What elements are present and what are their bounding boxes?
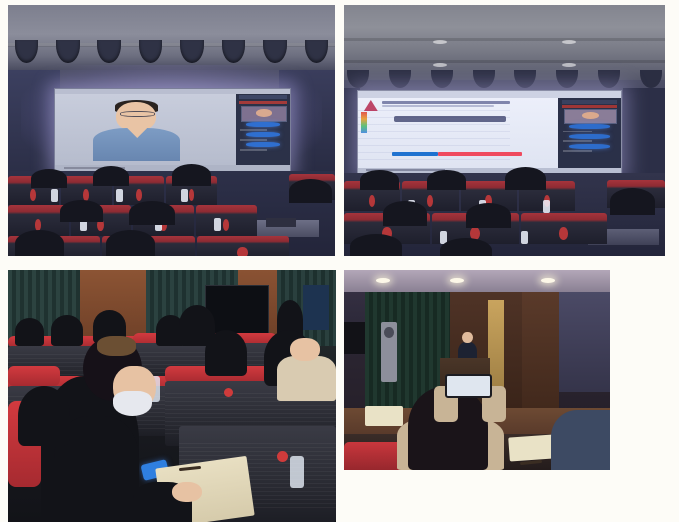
attendee (427, 170, 466, 190)
attendee (466, 203, 511, 228)
auditorium-scene (8, 5, 335, 256)
slide-color-strip (361, 112, 367, 133)
attendee-coat (277, 356, 336, 401)
attendee (93, 166, 129, 186)
attendee (106, 230, 155, 256)
seating-area (344, 173, 665, 256)
water-bottle-icon (290, 456, 304, 488)
attendee (360, 170, 399, 190)
ceiling-light-icon (433, 63, 447, 67)
stage-view-scene (344, 270, 610, 470)
desk (521, 213, 607, 244)
notebook-icon (508, 434, 555, 461)
seating-area (8, 171, 335, 256)
dome-speaker-icon (556, 70, 578, 88)
participant-thumbnail (241, 106, 286, 122)
attendee (440, 238, 491, 256)
attendee-face (290, 338, 320, 361)
photo-collage (0, 0, 679, 522)
dome-speaker-icon (56, 40, 80, 63)
presentation-slide (358, 98, 558, 168)
water-bottle-icon (521, 231, 528, 244)
water-bottle-icon (181, 189, 188, 202)
hair-accessory (97, 336, 136, 356)
ceiling-light-row-1 (376, 40, 633, 44)
projection-screen (357, 90, 622, 175)
attendee (15, 318, 45, 346)
slide-header-subtext (382, 105, 494, 107)
glasses-icon (120, 111, 155, 117)
dome-speaker-icon (431, 70, 453, 88)
video-main-view (55, 94, 236, 165)
dome-speaker-icon (15, 40, 39, 63)
dome-speaker-icon (347, 70, 369, 88)
attendee (60, 200, 103, 222)
dome-speaker-icon (97, 40, 121, 63)
sidebar-button-3 (569, 144, 611, 149)
video-conference-sidebar (558, 98, 621, 168)
dome-speaker-icon (514, 70, 536, 88)
banner (303, 285, 329, 330)
sidebar-button-1 (569, 124, 611, 129)
projection-screen (559, 292, 610, 392)
attendee (31, 169, 67, 188)
attendee (51, 315, 84, 345)
attendee (15, 230, 64, 256)
attendee (205, 330, 248, 375)
desk (197, 236, 289, 256)
loudspeaker (381, 322, 397, 382)
sidebar-button-1 (246, 122, 281, 127)
wall-right (623, 88, 665, 173)
attendee (129, 201, 175, 225)
sidebar-label-1 (563, 131, 592, 133)
sidebar-label-2 (240, 139, 267, 141)
wall-panel-wood (522, 292, 559, 408)
attendee (350, 234, 401, 256)
monitor (344, 322, 365, 354)
attendee (505, 167, 547, 190)
sidebar-label-3 (240, 149, 267, 151)
attendee (18, 386, 70, 446)
foreground-attendee-blurred (551, 410, 610, 470)
slide-header-text (382, 101, 510, 103)
water-bottle-icon (214, 218, 221, 231)
ceiling-light-icon (541, 278, 555, 283)
sidebar-label-3 (563, 150, 592, 152)
water-bottle-icon (116, 189, 123, 202)
photo-top-right[interactable] (344, 5, 665, 256)
notebook-icon (365, 406, 402, 426)
participant-thumbnail (564, 109, 617, 124)
dome-speaker-icon (598, 70, 620, 88)
ceiling-light-icon (562, 63, 576, 67)
desk (196, 205, 257, 236)
ceiling-light-icon (433, 40, 447, 44)
screen-titlebar (358, 91, 621, 98)
progress-bar-blue (392, 152, 438, 157)
dome-speaker-row (15, 40, 329, 63)
tablet-icon[interactable] (445, 374, 492, 398)
dome-speaker-icon (389, 70, 411, 88)
dome-speaker-icon (473, 70, 495, 88)
photo-bottom-right[interactable] (344, 270, 610, 470)
sidebar-label-2 (563, 140, 592, 142)
sidebar-button-2 (569, 134, 611, 139)
dome-speaker-icon (305, 40, 329, 63)
ceiling-light-icon (376, 278, 390, 283)
photo-top-left[interactable] (8, 5, 335, 256)
sidebar-header (562, 100, 618, 103)
seat-headrest (8, 366, 60, 386)
photo-bottom-left[interactable] (8, 270, 336, 522)
podium (266, 218, 295, 227)
sidebar-header (239, 95, 288, 99)
attendee (383, 201, 428, 226)
attendee-hand (172, 482, 202, 502)
ceiling-light-icon (562, 40, 576, 44)
sidebar-label-1 (240, 129, 267, 131)
dome-speaker-icon (263, 40, 287, 63)
dome-speaker-icon (640, 70, 662, 88)
auditorium-scene (344, 5, 665, 256)
progress-bar-red (438, 152, 522, 157)
sidebar-alert-bar (562, 105, 618, 108)
dome-speaker-icon (139, 40, 163, 63)
slide-title-text (394, 116, 506, 122)
sidebar-button-3 (246, 142, 281, 147)
attendee (289, 179, 332, 203)
dome-speaker-row (347, 70, 662, 88)
attendee (610, 188, 655, 215)
water-bottle-icon (543, 200, 550, 213)
ceiling-light-row-2 (376, 63, 633, 67)
sidebar-button-2 (246, 132, 281, 137)
water-bottle-icon (51, 189, 58, 202)
dome-speaker-icon (222, 40, 246, 63)
attendee (172, 164, 211, 186)
sidebar-alert-bar (239, 101, 288, 105)
dome-speaker-icon (180, 40, 204, 63)
video-conference-sidebar (236, 94, 290, 165)
audience-scene (8, 270, 336, 522)
projection-screen (54, 88, 291, 173)
